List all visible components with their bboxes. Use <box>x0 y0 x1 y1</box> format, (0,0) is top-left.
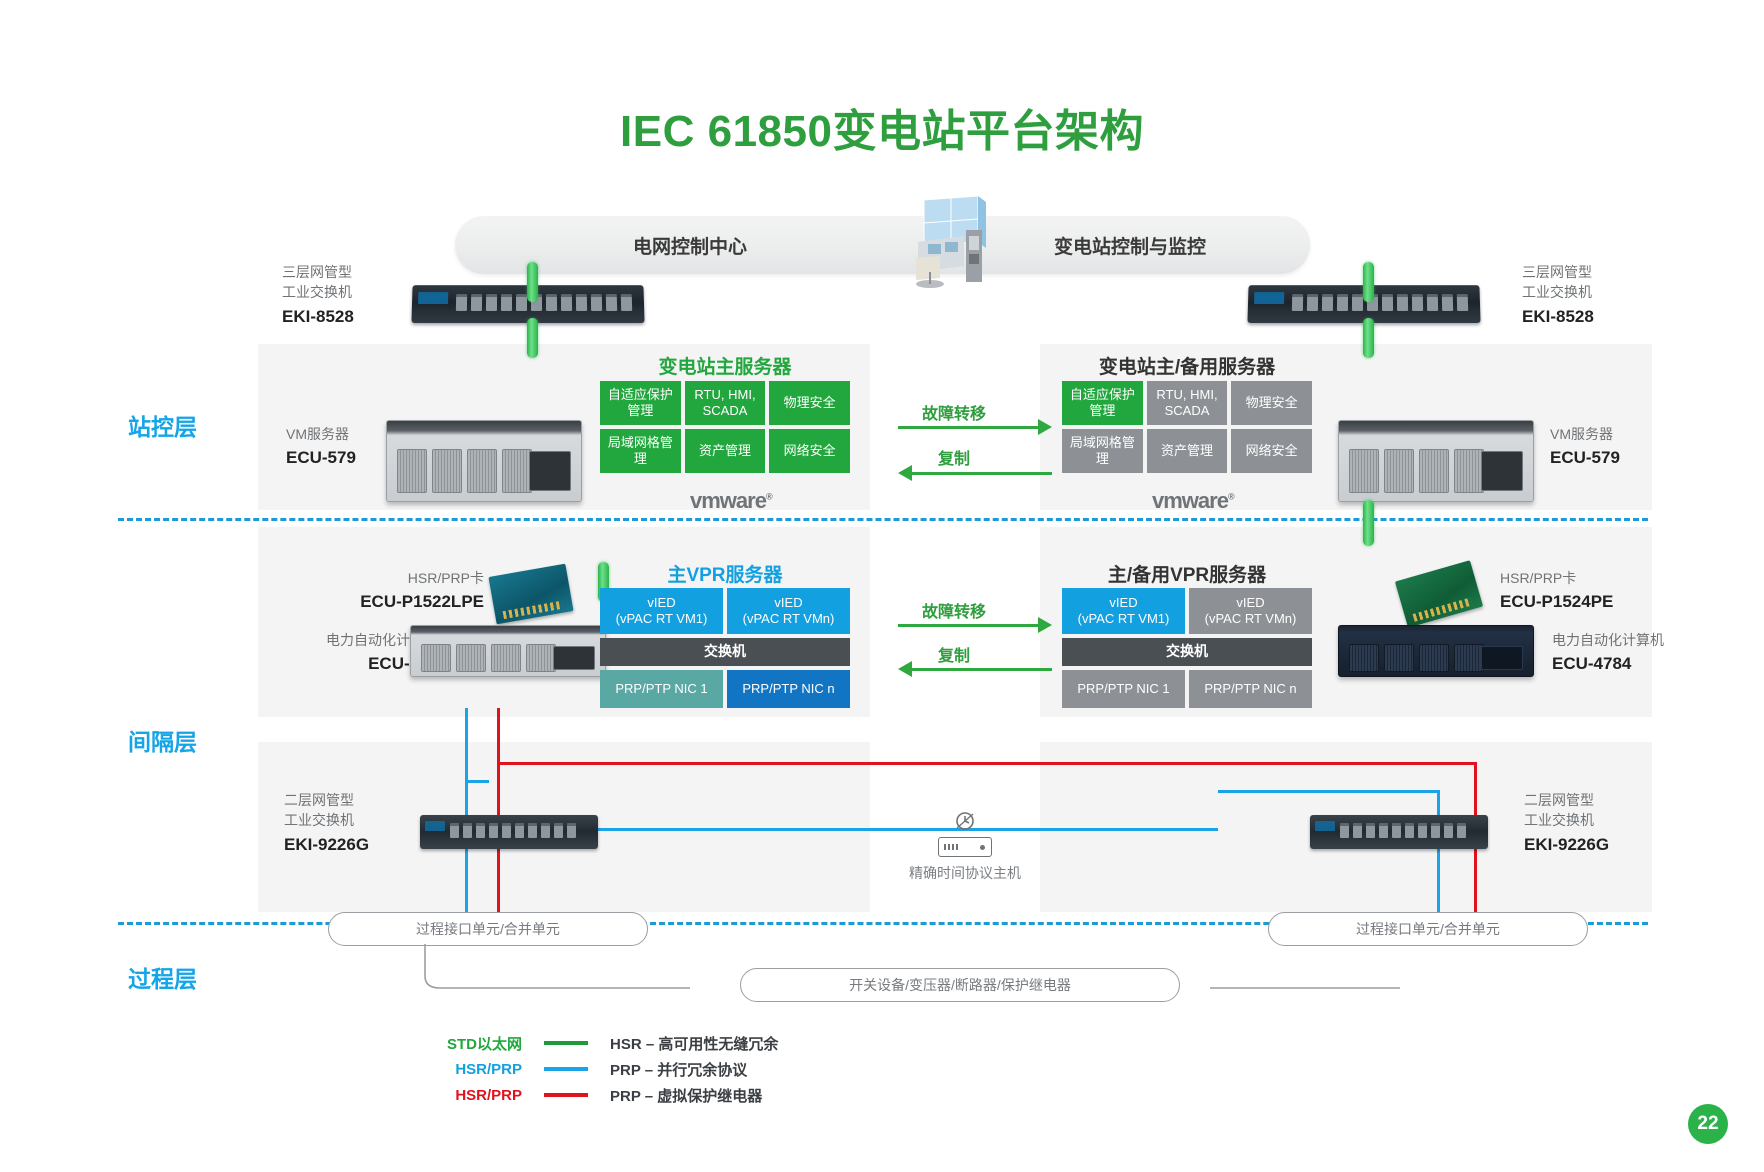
vm-server-left-image <box>386 420 582 502</box>
nic-standby-cell-1: PRP/PTP NIC n <box>1189 670 1312 708</box>
layer-label-bay: 间隔层 <box>128 723 197 757</box>
pac-left-image <box>410 625 606 677</box>
label-failover-station: 故障转移 <box>922 400 986 424</box>
vpr-switch-row-left: 交换机 <box>600 638 850 666</box>
station-standby-cell-2: 物理安全 <box>1231 381 1312 425</box>
link-std-eth-left-top <box>527 262 538 302</box>
legend-row-2: HSR/PRPPRP – 虚拟保护继电器 <box>430 1082 778 1108</box>
ptp-device-image <box>938 837 992 857</box>
vmware-logo-station-left: vmware® <box>690 488 772 514</box>
nic-primary-cell-1: PRP/PTP NIC n <box>727 670 850 708</box>
net-line-blue-right-v <box>1437 790 1440 930</box>
layer-separator-1 <box>118 518 1648 521</box>
arrow-failover-bay-line <box>898 624 1038 627</box>
legend-text-0: HSR – 高可用性无缝冗余 <box>610 1033 778 1054</box>
page-title: IEC 61850变电站平台架构 <box>0 95 1764 159</box>
legend: STD以太网HSR – 高可用性无缝冗余HSR/PRPPRP – 并行冗余协议H… <box>430 1030 778 1108</box>
label-pac-right: 电力自动化计算机 ECU-4784 <box>1552 630 1712 677</box>
process-equipment-bar: 开关设备/变压器/断路器/保护继电器 <box>740 968 1180 1002</box>
legend-tag-2: HSR/PRP <box>430 1087 522 1104</box>
legend-row-1: HSR/PRPPRP – 并行冗余协议 <box>430 1056 778 1082</box>
label-replicate-bay: 复制 <box>938 642 970 666</box>
legend-tag-1: HSR/PRP <box>430 1061 522 1078</box>
arrow-failover-station-head <box>1038 419 1052 435</box>
legend-text-2: PRP – 虚拟保护继电器 <box>610 1085 762 1106</box>
station-primary-cell-2: 物理安全 <box>769 381 850 425</box>
label-switch-l2-left: 二层网管型 工业交换机 EKI-9226G <box>284 790 394 857</box>
vpr-switch-row-right: 交换机 <box>1062 638 1312 666</box>
matrix-vied-primary: vIED(vPAC RT VM1)vIED(vPAC RT VMn) <box>600 588 850 634</box>
vied-primary-cell-1: vIED(vPAC RT VMn) <box>727 588 850 634</box>
legend-text-1: PRP – 并行冗余协议 <box>610 1059 747 1080</box>
station-primary-cell-4: 资产管理 <box>685 429 766 473</box>
link-std-eth-bay-right <box>1363 500 1374 546</box>
legend-swatch-2 <box>544 1093 588 1097</box>
legend-swatch-1 <box>544 1067 588 1071</box>
arrow-replicate-station-line <box>912 472 1052 475</box>
arrow-replicate-bay-head <box>898 661 912 677</box>
station-standby-cell-4: 资产管理 <box>1147 429 1228 473</box>
matrix-station-standby: 自适应保护管理RTU, HMI, SCADA物理安全局域网格管理资产管理网络安全 <box>1062 381 1312 473</box>
matrix-station-primary: 自适应保护管理RTU, HMI, SCADA物理安全局域网格管理资产管理网络安全 <box>600 381 850 473</box>
label-vm-server-right: VM服务器 ECU-579 <box>1550 424 1660 471</box>
panel-title-station-standby: 变电站主/备用服务器 <box>1062 352 1312 379</box>
process-interface-unit-left: 过程接口单元/合并单元 <box>328 912 648 946</box>
legend-tag-0: STD以太网 <box>430 1033 522 1054</box>
matrix-vied-standby: vIED(vPAC RT VM1)vIED(vPAC RT VMn) <box>1062 588 1312 634</box>
header-label-substation-control: 变电站控制与监控 <box>980 232 1280 259</box>
vied-primary-cell-0: vIED(vPAC RT VM1) <box>600 588 723 634</box>
label-replicate-station: 复制 <box>938 445 970 469</box>
link-std-eth-right-top <box>1363 262 1374 302</box>
panel-title-vpr-primary: 主VPR服务器 <box>600 560 850 587</box>
station-primary-cell-5: 网络安全 <box>769 429 850 473</box>
layer-label-station: 站控层 <box>128 408 197 442</box>
link-std-eth-left-down <box>527 318 538 358</box>
station-standby-cell-1: RTU, HMI, SCADA <box>1147 381 1228 425</box>
legend-swatch-0 <box>544 1041 588 1045</box>
legend-row-0: STD以太网HSR – 高可用性无缝冗余 <box>430 1030 778 1056</box>
matrix-nic-primary: PRP/PTP NIC 1PRP/PTP NIC n <box>600 670 850 708</box>
switch-l2-right-image <box>1310 815 1488 849</box>
vied-standby-cell-1: vIED(vPAC RT VMn) <box>1189 588 1312 634</box>
ptp-host: 精确时间协议主机 <box>905 810 1025 883</box>
link-std-eth-right-down <box>1363 318 1374 358</box>
control-room-icon <box>900 196 1000 292</box>
nic-standby-cell-0: PRP/PTP NIC 1 <box>1062 670 1185 708</box>
label-vm-server-left: VM服务器 ECU-579 <box>286 424 396 471</box>
panel-title-vpr-standby: 主/备用VPR服务器 <box>1062 560 1312 587</box>
arrow-failover-bay-head <box>1038 617 1052 633</box>
label-switch-l2-right: 二层网管型 工业交换机 EKI-9226G <box>1524 790 1644 857</box>
ptp-host-label: 精确时间协议主机 <box>905 863 1025 883</box>
label-switch-l3-right: 三层网管型 工业交换机 EKI-8528 <box>1522 262 1642 329</box>
label-nic-left: HSR/PRP卡 ECU-P1522LPE <box>344 568 484 615</box>
station-primary-cell-3: 局域网格管理 <box>600 429 681 473</box>
pac-right-image <box>1338 625 1534 677</box>
station-standby-cell-0: 自适应保护管理 <box>1062 381 1143 425</box>
arrow-failover-station-line <box>898 426 1038 429</box>
matrix-nic-standby: PRP/PTP NIC 1PRP/PTP NIC n <box>1062 670 1312 708</box>
station-standby-cell-3: 局域网格管理 <box>1062 429 1143 473</box>
diagram-canvas: IEC 61850变电站平台架构 电网控制中心 变电站控制与监控 站控层 间隔层… <box>0 0 1764 1172</box>
station-primary-cell-1: RTU, HMI, SCADA <box>685 381 766 425</box>
nic-primary-cell-0: PRP/PTP NIC 1 <box>600 670 723 708</box>
vmware-logo-station-right: vmware® <box>1152 488 1234 514</box>
vm-server-right-image <box>1338 420 1534 502</box>
net-line-blue-left-stub <box>465 780 489 783</box>
station-primary-cell-0: 自适应保护管理 <box>600 381 681 425</box>
arrow-replicate-bay-line <box>912 668 1052 671</box>
net-line-red-bus <box>497 762 1477 765</box>
panel-title-station-primary: 变电站主服务器 <box>600 352 850 379</box>
clock-icon <box>954 810 976 832</box>
station-standby-cell-5: 网络安全 <box>1231 429 1312 473</box>
label-failover-bay: 故障转移 <box>922 598 986 622</box>
process-interface-unit-right: 过程接口单元/合并单元 <box>1268 912 1588 946</box>
net-line-blue-right-h <box>1218 790 1440 793</box>
switch-l2-left-image <box>420 815 598 849</box>
header-label-grid-control-center: 电网控制中心 <box>560 232 820 259</box>
arrow-replicate-station-head <box>898 465 912 481</box>
layer-label-process: 过程层 <box>128 960 197 994</box>
vied-standby-cell-0: vIED(vPAC RT VM1) <box>1062 588 1185 634</box>
label-switch-l3-left: 三层网管型 工业交换机 EKI-8528 <box>282 262 392 329</box>
label-nic-right: HSR/PRP卡 ECU-P1524PE <box>1500 568 1650 615</box>
page-number: 22 <box>1688 1104 1728 1144</box>
